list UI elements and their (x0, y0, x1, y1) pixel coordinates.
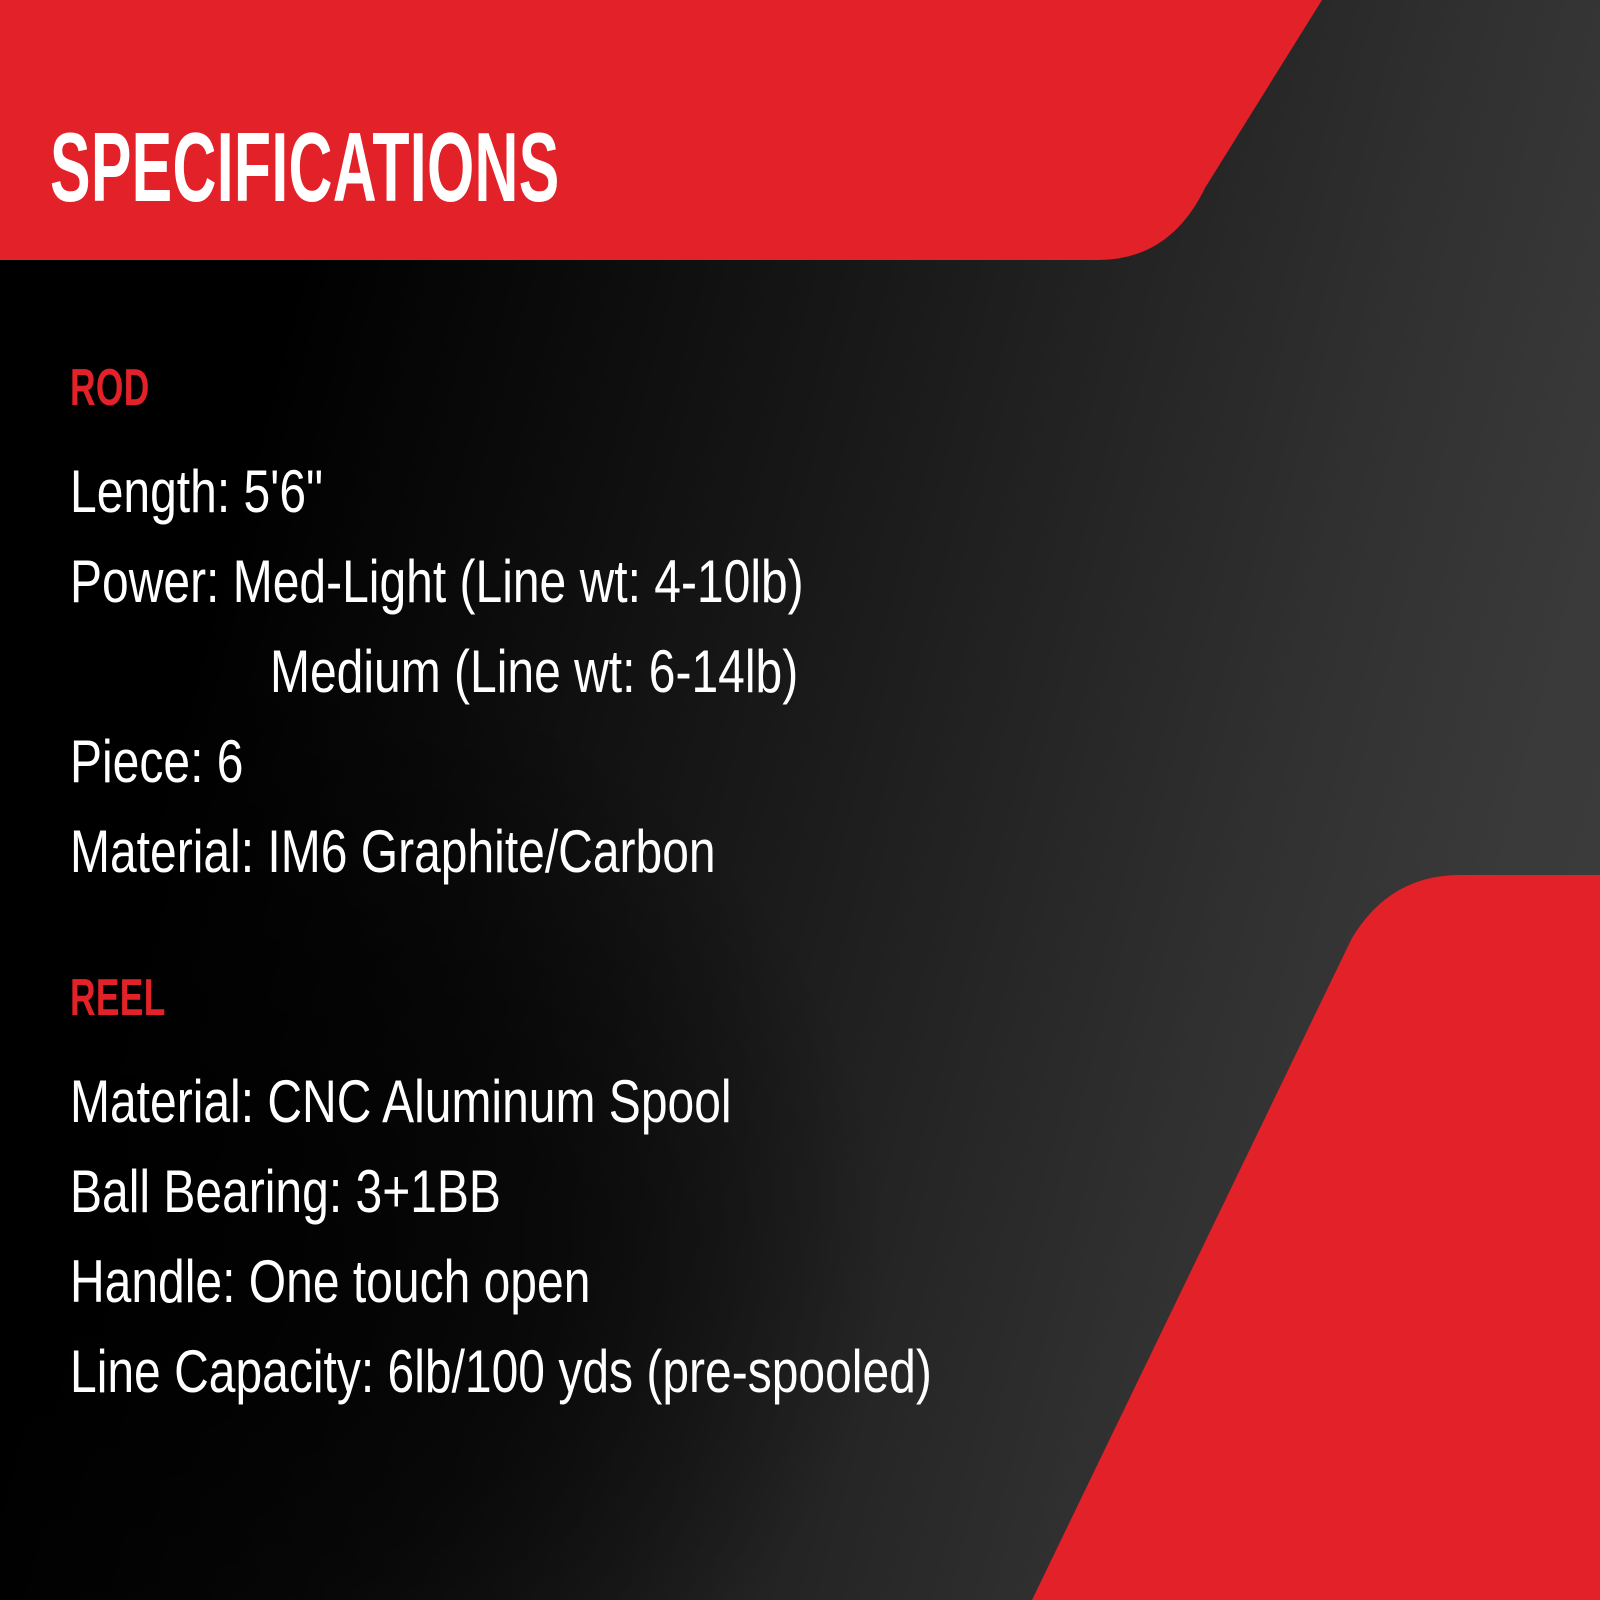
spec-section-reel: REEL Material: CNC Aluminum Spool Ball B… (70, 972, 1147, 1402)
spec-line: Ball Bearing: 3+1BB (70, 1162, 932, 1222)
spec-line: Power: Med-Light (Line wt: 4-10lb) (70, 552, 804, 612)
spec-line: Material: IM6 Graphite/Carbon (70, 822, 804, 882)
page-header: SPECIFICATIONS (0, 0, 1340, 262)
spec-line: Material: CNC Aluminum Spool (70, 1072, 932, 1132)
section-heading-reel: REEL (70, 972, 803, 1024)
spec-line: Handle: One touch open (70, 1252, 932, 1312)
spec-line: Piece: 6 (70, 732, 804, 792)
spec-list-reel: Material: CNC Aluminum Spool Ball Bearin… (70, 1072, 1147, 1402)
spec-line: Length: 5'6" (70, 462, 804, 522)
section-heading-rod: ROD (70, 362, 694, 414)
spec-list-rod: Length: 5'6" Power: Med-Light (Line wt: … (70, 462, 987, 882)
spec-line: Medium (Line wt: 6-14lb) (70, 642, 804, 702)
page-title: SPECIFICATIONS (50, 118, 560, 216)
specifications-card: SPECIFICATIONS ROD Length: 5'6" Power: M… (0, 0, 1600, 1600)
spec-section-rod: ROD Length: 5'6" Power: Med-Light (Line … (70, 362, 987, 882)
spec-line: Line Capacity: 6lb/100 yds (pre-spooled) (70, 1342, 932, 1402)
